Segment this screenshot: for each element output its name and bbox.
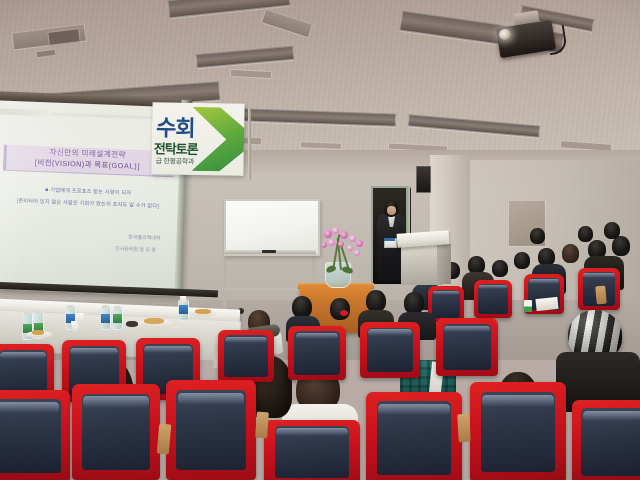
auditorium-seat[interactable] bbox=[166, 380, 256, 480]
water-bottle bbox=[100, 307, 111, 330]
audience-head bbox=[530, 228, 545, 244]
audience-head bbox=[292, 296, 312, 318]
audience-head bbox=[492, 260, 508, 277]
slide-body-line2: [준비되어 있지 않은 사람은 기회가 왔는지 조차도 알 수가 없다] bbox=[0, 197, 178, 211]
seat-armrest bbox=[255, 412, 269, 439]
audience-head bbox=[330, 298, 350, 320]
lectern-side bbox=[437, 244, 451, 284]
auditorium-seat[interactable] bbox=[366, 392, 462, 480]
banner-swoosh-graphic bbox=[191, 107, 244, 172]
bottle-cap bbox=[67, 305, 74, 309]
bottle-label bbox=[179, 305, 188, 314]
auditorium-seat[interactable] bbox=[288, 326, 346, 380]
auditorium-seat[interactable] bbox=[218, 330, 274, 382]
bottle-cap bbox=[102, 305, 109, 309]
lecture-hall-photo: 한국폴리텍 자신만의 미래설계전략 [비전(VISION)과 목표(GOAL)]… bbox=[0, 0, 640, 480]
auditorium-seat[interactable] bbox=[264, 420, 360, 480]
paper-cup bbox=[76, 313, 84, 324]
whiteboard bbox=[224, 199, 320, 256]
audience-head bbox=[404, 292, 424, 314]
name-badge-header bbox=[384, 238, 395, 241]
bottle-label bbox=[113, 314, 122, 323]
banner-hanging-pole bbox=[248, 108, 251, 180]
ceiling-vent bbox=[300, 141, 342, 149]
slide-footer-line2: 인사관리팀 장 모 춘 bbox=[115, 245, 156, 254]
bottle-cap bbox=[35, 310, 42, 314]
auditorium-seat[interactable] bbox=[436, 318, 498, 376]
banner-caption: 급 한평공학과 bbox=[156, 156, 195, 167]
audience-head bbox=[562, 244, 579, 263]
audience-head bbox=[366, 290, 386, 312]
paper-cup bbox=[180, 296, 186, 304]
slide-body-line1: ■ 기업에게 프로포즈 받는 사람이 되자 bbox=[8, 185, 168, 198]
auditorium-seat[interactable] bbox=[72, 384, 160, 480]
audience-head bbox=[612, 236, 630, 256]
snack-food bbox=[195, 309, 211, 314]
bottle-label bbox=[101, 314, 110, 323]
snack-food bbox=[144, 318, 164, 324]
slide-top-accent bbox=[0, 108, 51, 116]
auditorium-seat[interactable] bbox=[470, 382, 566, 480]
auditorium-seat[interactable] bbox=[0, 390, 70, 480]
auditorium-seat[interactable] bbox=[360, 322, 420, 378]
bottle-cap bbox=[114, 306, 121, 310]
slide-footer-line1: 한국폴리텍대학 bbox=[128, 234, 160, 242]
auditorium-seat[interactable] bbox=[474, 280, 512, 318]
whiteboard-marker bbox=[262, 250, 276, 253]
wall-speaker-icon bbox=[416, 166, 431, 193]
handheld-item bbox=[524, 300, 532, 312]
banner-subhead: 전탁토론 bbox=[154, 138, 198, 158]
snack-food bbox=[126, 321, 138, 327]
wall-banner: 수회 전탁토론 급 한평공학과 bbox=[151, 102, 244, 176]
water-bottle bbox=[112, 308, 123, 330]
audience-head bbox=[578, 226, 593, 242]
auditorium-seat[interactable] bbox=[572, 400, 640, 480]
seat-armrest bbox=[595, 286, 607, 305]
snack-food bbox=[32, 330, 44, 335]
paper-sheet bbox=[535, 297, 558, 311]
audience-head bbox=[514, 252, 530, 269]
seat-armrest bbox=[457, 414, 470, 443]
orchid-plant bbox=[316, 228, 368, 270]
presenter-face bbox=[387, 206, 396, 215]
bottle-cap bbox=[24, 311, 31, 315]
red-hair-tie bbox=[340, 310, 348, 316]
audience-head bbox=[604, 222, 620, 239]
